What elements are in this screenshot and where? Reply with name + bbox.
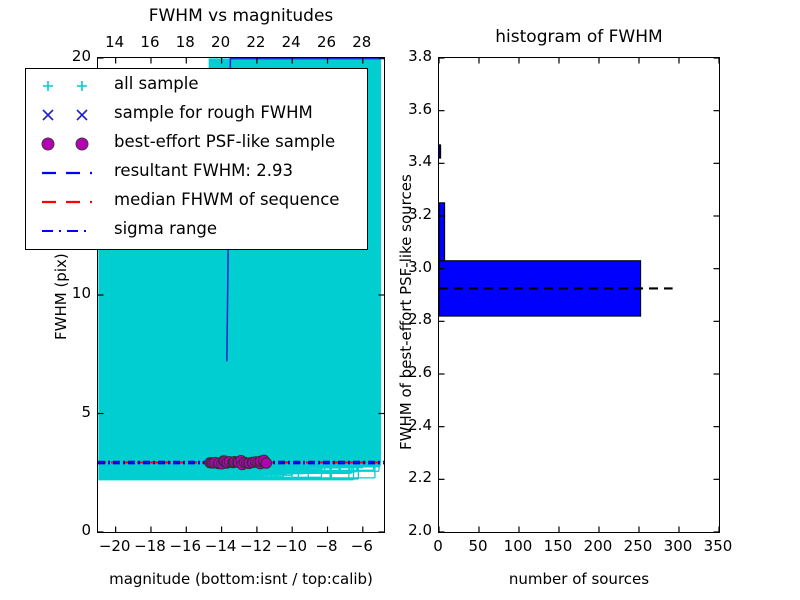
scatter-x-tick: −12 bbox=[236, 537, 276, 555]
scatter-x-tick: −18 bbox=[130, 537, 170, 555]
scatter-y-tick: 20 bbox=[49, 47, 91, 65]
scatter-top-tick: 28 bbox=[342, 33, 382, 51]
scatter-x-tick: −10 bbox=[271, 537, 311, 555]
scatter-x-tick: −16 bbox=[165, 537, 205, 555]
legend-marker-dashdot-icon bbox=[32, 217, 112, 245]
scatter-y-tick: 0 bbox=[49, 521, 91, 539]
legend-item[interactable]: best-effort PSF-like sample bbox=[26, 130, 367, 158]
legend-item[interactable]: median FHWM of sequence bbox=[26, 188, 367, 216]
legend-item[interactable]: sample for rough FWHM bbox=[26, 101, 367, 129]
figure-canvas: FWHM vs magnitudes −20−18−16−14−12−10−8−… bbox=[0, 0, 800, 600]
scatter-y-tick: 5 bbox=[49, 403, 91, 421]
histogram-y-axis-label: FWHM of best-effort PSF-like sources bbox=[397, 174, 415, 450]
scatter-top-tick: 22 bbox=[236, 33, 276, 51]
legend-marker-dashed-icon bbox=[32, 188, 112, 216]
legend-item[interactable]: sigma range bbox=[26, 217, 367, 245]
histogram-x-tick: 350 bbox=[698, 537, 738, 555]
legend-item-label: resultant FWHM: 2.93 bbox=[114, 161, 293, 180]
legend-item-label: all sample bbox=[114, 74, 199, 93]
plot-legend[interactable]: all samplesample for rough FWHMbest-effo… bbox=[25, 68, 368, 250]
scatter-top-tick: 18 bbox=[165, 33, 205, 51]
scatter-y-axis-label: FWHM (pix) bbox=[52, 253, 70, 340]
histogram-x-tick: 150 bbox=[538, 537, 578, 555]
scatter-x-tick: −14 bbox=[201, 537, 241, 555]
legend-item-label: median FHWM of sequence bbox=[114, 190, 339, 209]
histogram-x-tick: 300 bbox=[658, 537, 698, 555]
histogram-x-tick: 100 bbox=[498, 537, 538, 555]
histogram-x-axis-label: number of sources bbox=[438, 570, 720, 588]
scatter-x-tick: −20 bbox=[95, 537, 135, 555]
legend-marker-dashed-icon bbox=[32, 159, 112, 187]
legend-marker-cross-icon bbox=[32, 101, 112, 129]
scatter-top-tick: 24 bbox=[271, 33, 311, 51]
scatter-top-tick: 16 bbox=[130, 33, 170, 51]
scatter-x-tick: −6 bbox=[342, 537, 382, 555]
histogram-y-tick: 3.8 bbox=[392, 47, 432, 65]
histogram-y-tick: 2.2 bbox=[392, 468, 432, 486]
histogram-x-tick: 50 bbox=[458, 537, 498, 555]
legend-item-label: best-effort PSF-like sample bbox=[114, 132, 335, 151]
histogram-tick-marks bbox=[438, 57, 720, 533]
histogram-y-tick: 3.4 bbox=[392, 152, 432, 170]
legend-marker-plus-icon bbox=[32, 72, 112, 100]
histogram-x-tick: 200 bbox=[578, 537, 618, 555]
histogram-y-tick: 2.0 bbox=[392, 521, 432, 539]
histogram-y-tick: 3.6 bbox=[392, 100, 432, 118]
legend-marker-circle-icon bbox=[32, 130, 112, 158]
histogram-x-tick: 0 bbox=[418, 537, 458, 555]
legend-item[interactable]: all sample bbox=[26, 72, 367, 100]
histogram-x-tick: 250 bbox=[618, 537, 658, 555]
scatter-top-tick: 14 bbox=[95, 33, 135, 51]
scatter-top-tick: 26 bbox=[307, 33, 347, 51]
scatter-x-axis-label: magnitude (bottom:isnt / top:calib) bbox=[97, 570, 385, 588]
legend-item-label: sample for rough FWHM bbox=[114, 103, 313, 122]
histogram-title: histogram of FWHM bbox=[438, 27, 720, 47]
legend-item[interactable]: resultant FWHM: 2.93 bbox=[26, 159, 367, 187]
scatter-title: FWHM vs magnitudes bbox=[97, 6, 385, 26]
scatter-top-tick: 20 bbox=[201, 33, 241, 51]
legend-item-label: sigma range bbox=[114, 219, 217, 238]
scatter-x-tick: −8 bbox=[307, 537, 347, 555]
